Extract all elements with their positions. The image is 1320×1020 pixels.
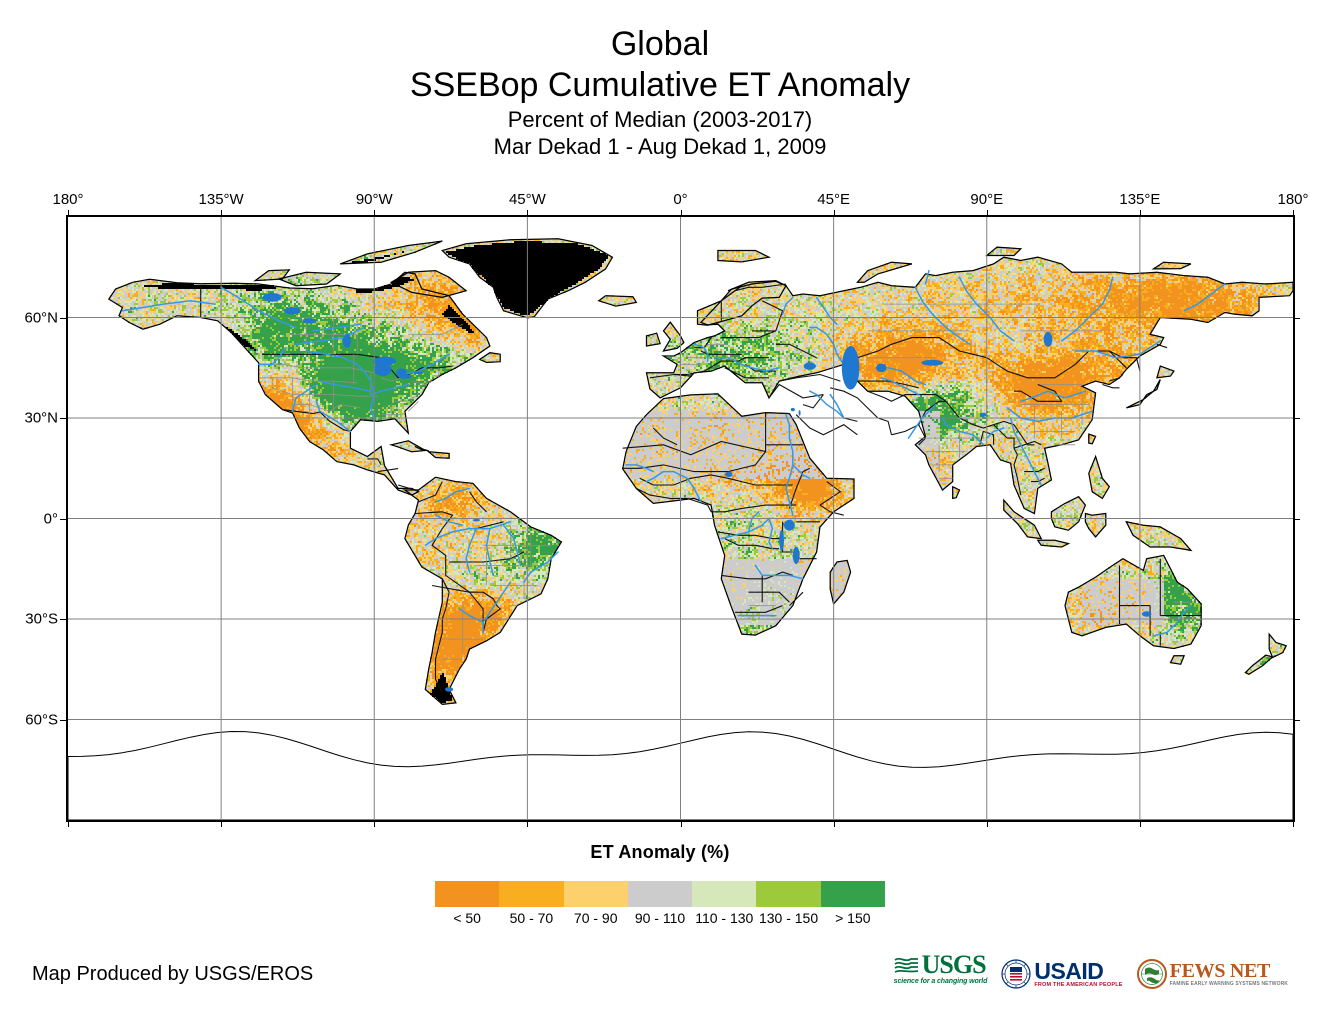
lon-tick-5 xyxy=(834,210,835,216)
usgs-wave-icon xyxy=(894,955,920,975)
lon-tick-label-5: 45°E xyxy=(817,191,850,208)
lake-7 xyxy=(343,334,351,348)
lon-tick-7 xyxy=(1140,210,1141,216)
lake-11 xyxy=(779,530,784,551)
lon-tick-4 xyxy=(681,210,682,216)
lake-13 xyxy=(842,346,860,390)
lake-15 xyxy=(876,363,887,372)
lon-tick-label-2: 90°W xyxy=(356,191,393,208)
lat-tick-4 xyxy=(60,720,66,721)
lon-tick-bottom-4 xyxy=(681,821,682,827)
lon-tick-label-3: 45°W xyxy=(509,191,546,208)
legend-title: ET Anomaly (%) xyxy=(0,842,1320,863)
legend-color-ramp xyxy=(435,881,885,907)
lat-tick-0 xyxy=(60,318,66,319)
lon-tick-bottom-7 xyxy=(1140,821,1141,827)
fews-globe-icon xyxy=(1137,959,1167,989)
logo-strip: USGS science for a changing world xyxy=(894,952,1288,996)
country-border-44 xyxy=(769,385,823,398)
map-subtitle: Percent of Median (2003-2017) xyxy=(0,106,1320,133)
map-page: Global SSEBop Cumulative ET Anomaly Perc… xyxy=(0,0,1320,1020)
lat-tick-right-1 xyxy=(1294,418,1300,419)
lake-19 xyxy=(799,410,801,415)
lake-8 xyxy=(303,318,317,323)
lake-23 xyxy=(473,519,480,522)
lon-tick-label-1: 135°W xyxy=(199,191,244,208)
lake-4 xyxy=(414,372,424,375)
legend-swatch-1 xyxy=(499,881,563,907)
legend-label-3: 90 - 110 xyxy=(628,910,692,930)
world-anomaly-raster xyxy=(68,217,1293,820)
usaid-tagline: FROM THE AMERICAN PEOPLE xyxy=(1034,982,1122,988)
legend-label-5: 130 - 150 xyxy=(756,910,820,930)
lat-tick-1 xyxy=(60,418,66,419)
lon-tick-3 xyxy=(527,210,528,216)
lon-tick-label-0: 180° xyxy=(52,191,83,208)
lat-tick-right-0 xyxy=(1294,318,1300,319)
legend-labels: < 5050 - 7070 - 9090 - 110110 - 130130 -… xyxy=(435,910,885,930)
country-border-55 xyxy=(844,418,858,421)
lake-5 xyxy=(284,307,300,314)
legend-swatch-5 xyxy=(756,881,820,907)
legend-swatch-4 xyxy=(692,881,756,907)
map-period: Mar Dekad 1 - Aug Dekad 1, 2009 xyxy=(0,133,1320,160)
lon-tick-label-7: 135°E xyxy=(1119,191,1160,208)
lat-tick-right-2 xyxy=(1294,519,1300,520)
country-border-53 xyxy=(830,388,891,435)
lon-tick-1 xyxy=(221,210,222,216)
lake-21 xyxy=(445,687,453,692)
lon-tick-bottom-0 xyxy=(68,821,69,827)
lat-tick-label-2: 0° xyxy=(4,510,58,527)
lake-6 xyxy=(263,293,282,302)
lake-14 xyxy=(804,362,816,369)
lat-tick-3 xyxy=(60,619,66,620)
legend-label-1: 50 - 70 xyxy=(499,910,563,930)
lon-tick-bottom-5 xyxy=(834,821,835,827)
lon-tick-bottom-8 xyxy=(1293,821,1294,827)
lake-9 xyxy=(784,520,795,531)
lat-tick-label-1: 30°N xyxy=(4,410,58,427)
lon-tick-bottom-2 xyxy=(374,821,375,827)
usgs-logo[interactable]: USGS science for a changing world xyxy=(894,953,988,995)
lat-tick-2 xyxy=(60,519,66,520)
legend-swatch-0 xyxy=(435,881,499,907)
legend-swatch-2 xyxy=(564,881,628,907)
production-credit: Map Produced by USGS/EROS xyxy=(32,963,313,986)
lon-tick-bottom-6 xyxy=(987,821,988,827)
lon-tick-8 xyxy=(1293,210,1294,216)
lon-tick-0 xyxy=(68,210,69,216)
legend-label-4: 110 - 130 xyxy=(692,910,756,930)
fews-net-tagline: FAMINE EARLY WARNING SYSTEMS NETWORK xyxy=(1170,981,1288,987)
usaid-seal-icon xyxy=(1001,959,1031,989)
fews-net-wordmark: FEWS NET xyxy=(1170,962,1270,981)
usaid-wordmark: USAID xyxy=(1034,961,1103,982)
country-border-71 xyxy=(1102,385,1119,388)
usgs-tagline: science for a changing world xyxy=(894,978,988,985)
usaid-logo[interactable]: USAID FROM THE AMERICAN PEOPLE xyxy=(1001,953,1122,995)
coastline-japanM xyxy=(1126,380,1160,408)
legend-label-0: < 50 xyxy=(435,910,499,930)
river-34 xyxy=(810,391,844,418)
lake-20 xyxy=(1142,611,1152,616)
lon-tick-2 xyxy=(374,210,375,216)
lat-tick-right-4 xyxy=(1294,720,1300,721)
legend-swatch-6 xyxy=(821,881,885,907)
legend-label-2: 70 - 90 xyxy=(564,910,628,930)
lake-12 xyxy=(725,472,732,477)
title-block: Global SSEBop Cumulative ET Anomaly Perc… xyxy=(0,24,1320,160)
lat-tick-label-3: 30°S xyxy=(4,611,58,628)
river-35 xyxy=(830,395,844,418)
lat-tick-label-0: 60°N xyxy=(4,309,58,326)
map-frame[interactable] xyxy=(66,215,1295,822)
map-title-line2: SSEBop Cumulative ET Anomaly xyxy=(0,64,1320,106)
lake-10 xyxy=(793,547,800,564)
lon-tick-label-4: 0° xyxy=(673,191,687,208)
lat-tick-label-4: 60°S xyxy=(4,711,58,728)
lake-22 xyxy=(980,413,987,417)
lon-tick-bottom-3 xyxy=(527,821,528,827)
fews-net-logo[interactable]: FEWS NET FAMINE EARLY WARNING SYSTEMS NE… xyxy=(1137,953,1288,995)
lake-17 xyxy=(1044,332,1053,347)
usgs-wordmark: USGS xyxy=(922,953,986,977)
lon-tick-label-8: 180° xyxy=(1277,191,1308,208)
lake-3 xyxy=(398,375,411,379)
legend-swatch-3 xyxy=(628,881,692,907)
legend-label-6: > 150 xyxy=(821,910,885,930)
lon-tick-label-6: 90°E xyxy=(970,191,1003,208)
lon-tick-bottom-1 xyxy=(221,821,222,827)
map-title-line1: Global xyxy=(0,24,1320,64)
lat-tick-right-3 xyxy=(1294,619,1300,620)
lake-16 xyxy=(921,360,943,366)
lake-1 xyxy=(373,357,396,366)
legend: ET Anomaly (%) < 5050 - 7070 - 9090 - 11… xyxy=(0,842,1320,930)
lon-tick-6 xyxy=(987,210,988,216)
lake-18 xyxy=(791,408,795,411)
map-container[interactable] xyxy=(66,215,1295,822)
